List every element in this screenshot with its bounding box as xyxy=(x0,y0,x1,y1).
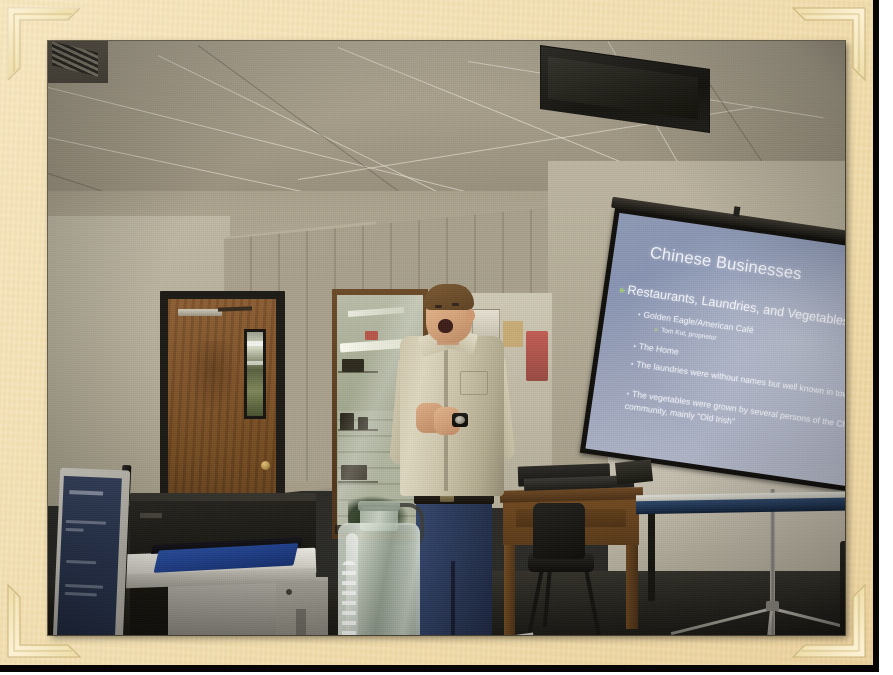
av-equipment-3 xyxy=(615,459,653,485)
carpet-floor-right xyxy=(468,571,845,635)
door-closer xyxy=(178,309,222,316)
table-leg xyxy=(648,509,655,601)
black-cabinet-edge xyxy=(130,493,316,501)
shirt-pocket xyxy=(460,371,488,395)
corner-ornament-bottom-right xyxy=(791,583,867,659)
laptop-slide-title-line xyxy=(69,490,103,495)
corner-ornament-top-right xyxy=(791,6,867,82)
cart-knob-icon[interactable] xyxy=(286,589,292,595)
red-object xyxy=(526,331,548,381)
bottle-cap[interactable] xyxy=(358,501,400,511)
door-glass-reflection xyxy=(247,341,263,346)
laptop-slide-line xyxy=(66,520,106,525)
corner-ornament-bottom-left xyxy=(6,583,82,659)
corner-ornament-top-left xyxy=(6,6,82,82)
presenter-eye-left xyxy=(435,305,442,308)
classroom-chair-back[interactable] xyxy=(533,503,585,559)
framed-photo-container: Chinese Businesses ▸Restaurants, Laundri… xyxy=(0,0,893,675)
presenter-ear xyxy=(466,309,475,322)
laptop-slide-line xyxy=(66,560,96,564)
wristwatch-face xyxy=(455,416,465,424)
presenter-hair xyxy=(424,284,474,310)
screen-projector-glow xyxy=(585,213,845,488)
tripod-hub xyxy=(766,601,779,611)
door-smudge xyxy=(188,341,238,411)
background-object xyxy=(503,321,523,347)
bottle-measure-scale xyxy=(342,561,356,635)
desk-leg xyxy=(504,541,515,635)
presenter-eye-right xyxy=(452,303,459,306)
laptop-slide-line xyxy=(66,528,84,532)
black-cabinet-label xyxy=(140,513,162,518)
presenter-mouth xyxy=(438,319,453,333)
photograph: Chinese Businesses ▸Restaurants, Laundri… xyxy=(48,41,845,635)
cart-vent-slot xyxy=(296,609,306,635)
door-glass-reflection-2 xyxy=(247,361,263,365)
desk-leg xyxy=(626,541,638,629)
presenter-leg-seam xyxy=(451,561,455,635)
door-knob-icon[interactable] xyxy=(261,461,270,470)
